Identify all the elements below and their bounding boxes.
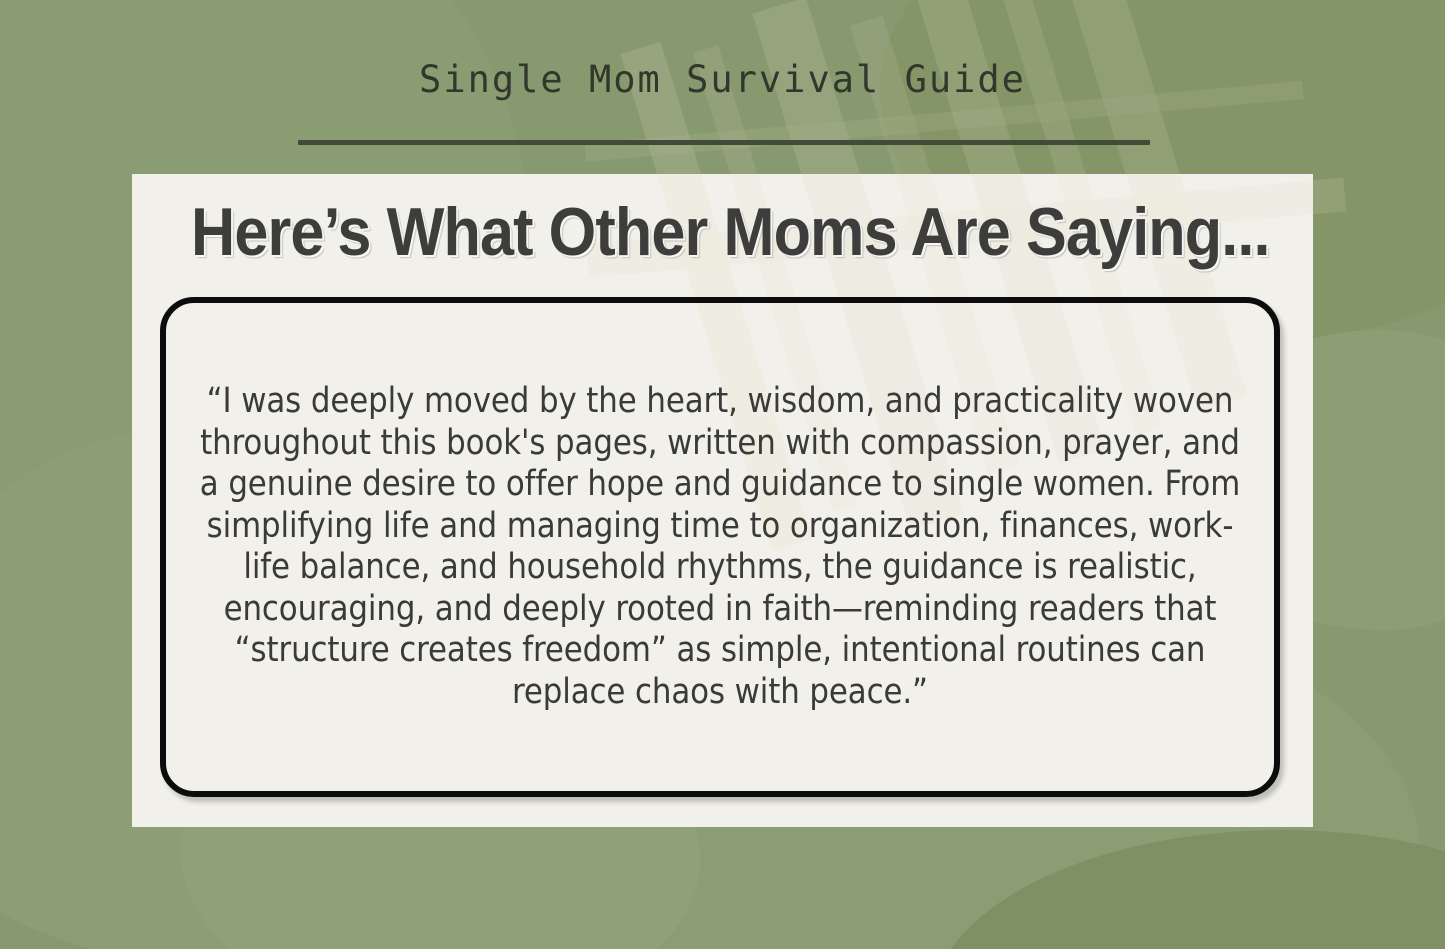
- testimonial-quote-box: “I was deeply moved by the heart, wisdom…: [160, 297, 1280, 797]
- title-divider: [298, 140, 1150, 145]
- testimonial-poster: Single Mom Survival Guide Here’s What Ot…: [0, 0, 1445, 949]
- testimonial-card: Here’s What Other Moms Are Saying... “I …: [132, 174, 1313, 827]
- background-blob: [930, 830, 1445, 949]
- testimonial-quote-text: “I was deeply moved by the heart, wisdom…: [183, 381, 1257, 713]
- page-title: Single Mom Survival Guide: [0, 58, 1445, 101]
- card-headline: Here’s What Other Moms Are Saying...: [191, 198, 1254, 266]
